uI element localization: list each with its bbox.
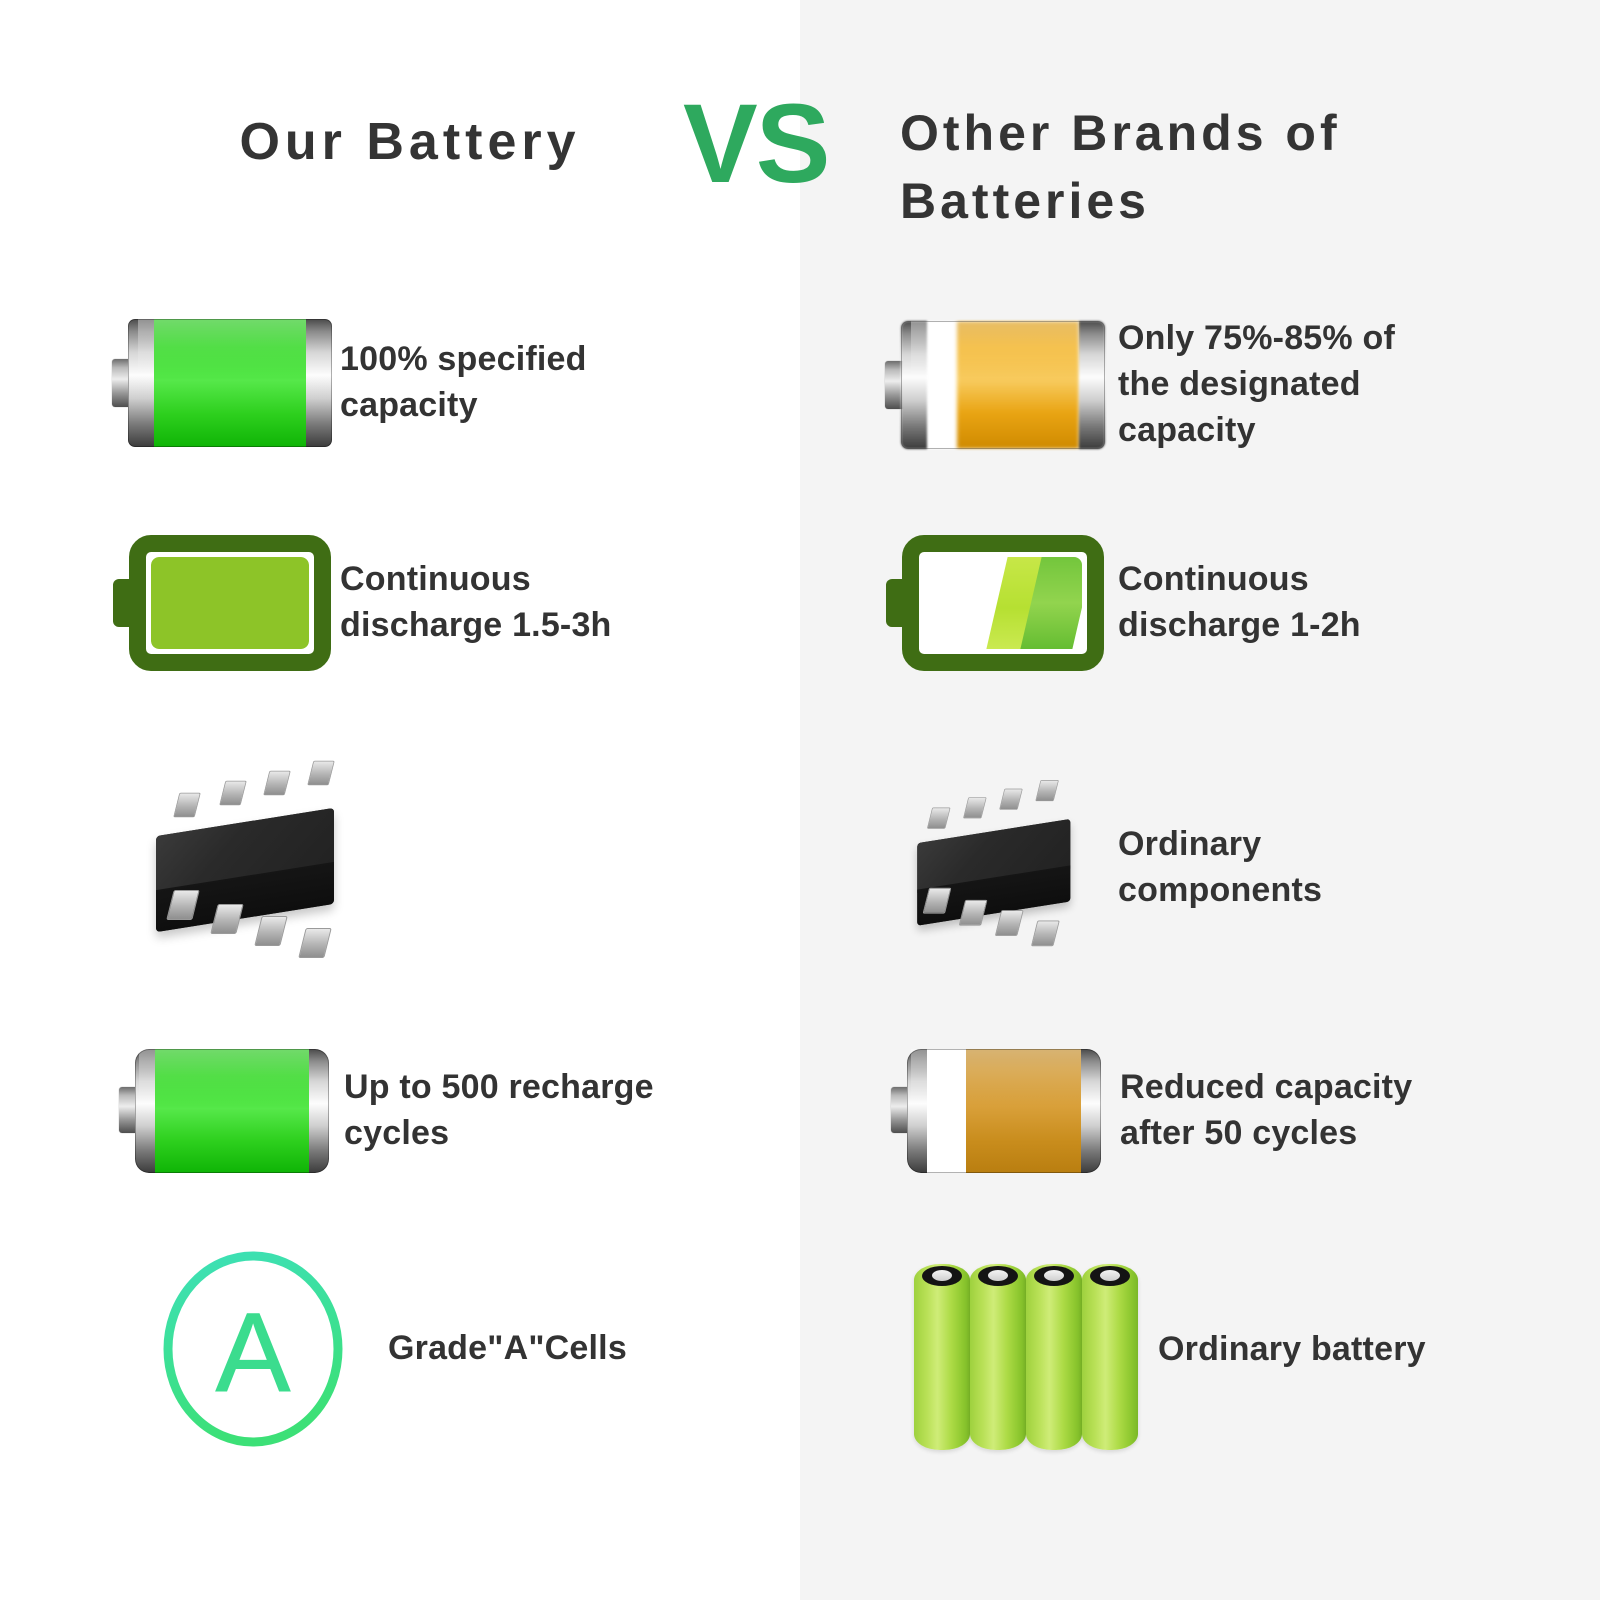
row-grade-left-label: Grade"A"Cells xyxy=(388,1326,718,1372)
row-cycles-left: Up to 500 recharge cycles xyxy=(104,1036,764,1186)
cylindrical-cells-18650-icon xyxy=(888,1250,1158,1450)
battery-full-green-horizontal-icon xyxy=(104,319,340,447)
row-components-right-label: Ordinary components xyxy=(1118,822,1438,914)
row-cycles-left-label: Up to 500 recharge cycles xyxy=(344,1065,694,1157)
row-grade-left: A Grade"A"Cells xyxy=(118,1244,778,1454)
row-capacity-left: 100% specified capacity xyxy=(104,308,764,458)
row-grade-right-label: Ordinary battery xyxy=(1158,1327,1488,1373)
ic-chip-soic8-icon xyxy=(112,770,382,960)
grade-a-circle-icon: A xyxy=(118,1249,388,1449)
comparison-infographic: Our Battery VS Other Brands of Batteries… xyxy=(0,0,1600,1600)
vs-badge: VS xyxy=(683,88,828,200)
battery-full-green-stub-icon xyxy=(104,1049,344,1173)
right-column-title: Other Brands of Batteries xyxy=(900,100,1500,235)
svg-text:A: A xyxy=(216,1290,291,1415)
ic-chip-soic8-icon xyxy=(888,773,1118,963)
row-cycles-right: Reduced capacity after 50 cycles xyxy=(872,1036,1572,1186)
row-components-left xyxy=(112,760,772,970)
row-discharge-left-label: Continuous discharge 1.5-3h xyxy=(340,557,680,649)
row-discharge-left: Continuous discharge 1.5-3h xyxy=(104,528,764,678)
left-column-title: Our Battery xyxy=(150,112,670,172)
header: Our Battery VS Other Brands of Batteries xyxy=(0,0,1600,260)
row-grade-right: Ordinary battery xyxy=(888,1240,1588,1460)
battery-reduced-amber-stub-icon xyxy=(872,1049,1120,1173)
row-capacity-left-label: 100% specified capacity xyxy=(340,337,670,429)
row-capacity-right: Only 75%-85% of the designated capacity xyxy=(872,300,1572,470)
battery-outline-partial-green-icon xyxy=(872,535,1118,671)
battery-outline-full-green-icon xyxy=(104,535,340,671)
row-capacity-right-label: Only 75%-85% of the designated capacity xyxy=(1118,316,1448,454)
row-components-right: Ordinary components xyxy=(888,768,1588,968)
battery-partial-amber-horizontal-icon xyxy=(872,321,1118,449)
row-discharge-right-label: Continuous discharge 1-2h xyxy=(1118,557,1448,649)
row-discharge-right: Continuous discharge 1-2h xyxy=(872,528,1572,678)
row-cycles-right-label: Reduced capacity after 50 cycles xyxy=(1120,1065,1450,1157)
